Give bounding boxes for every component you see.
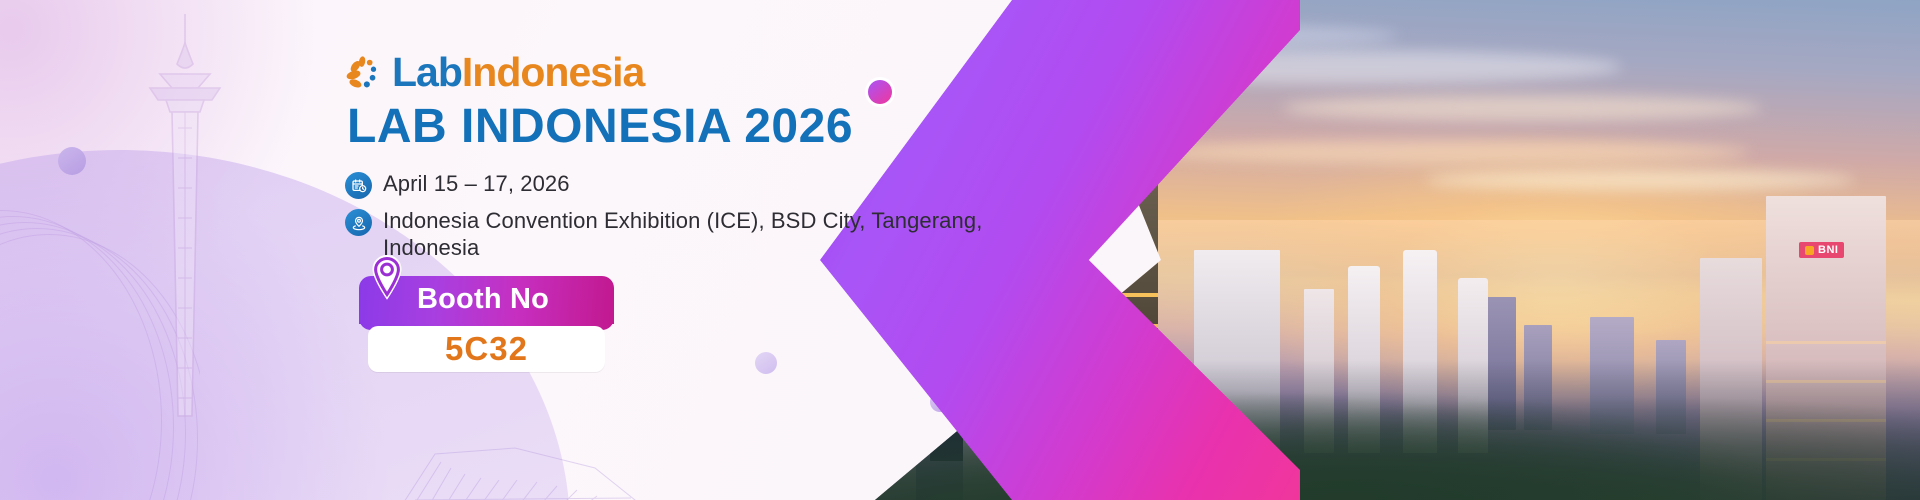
brand-logo-lab: Lab	[392, 49, 462, 95]
building-grid-decor	[395, 428, 655, 500]
booth-badge[interactable]: Booth No 5C32	[359, 276, 614, 372]
event-venue-text: Indonesia Convention Exhibition (ICE), B…	[383, 208, 1025, 262]
labindonesia-sunburst-icon	[345, 54, 383, 92]
calendar-clock-icon	[345, 172, 372, 199]
decor-dot-left	[58, 147, 86, 175]
brand-logo[interactable]: LabIndonesia	[345, 52, 1025, 93]
map-marker-outline-icon	[369, 254, 405, 302]
event-headline: LAB INDONESIA 2026	[347, 103, 1025, 151]
event-venue-row: Indonesia Convention Exhibition (ICE), B…	[345, 208, 1025, 262]
event-banner: BNI	[0, 0, 1920, 500]
bni-sign-text: BNI	[1818, 244, 1838, 256]
swoosh-line-decor	[0, 210, 200, 500]
monas-monument-icon	[120, 8, 250, 428]
booth-number-plate: 5C32	[368, 326, 605, 372]
brand-logo-text: LabIndonesia	[392, 52, 644, 93]
event-date-row: April 15 – 17, 2026	[345, 171, 1025, 199]
banner-content: LabIndonesia LAB INDONESIA 2026 April 15…	[345, 52, 1025, 372]
booth-number: 5C32	[445, 330, 528, 368]
booth-label: Booth No	[417, 283, 549, 316]
event-date-text: April 15 – 17, 2026	[383, 171, 570, 198]
bni-sign: BNI	[1799, 242, 1844, 258]
location-pin-icon	[345, 209, 372, 236]
brand-logo-indonesia: Indonesia	[462, 49, 644, 95]
